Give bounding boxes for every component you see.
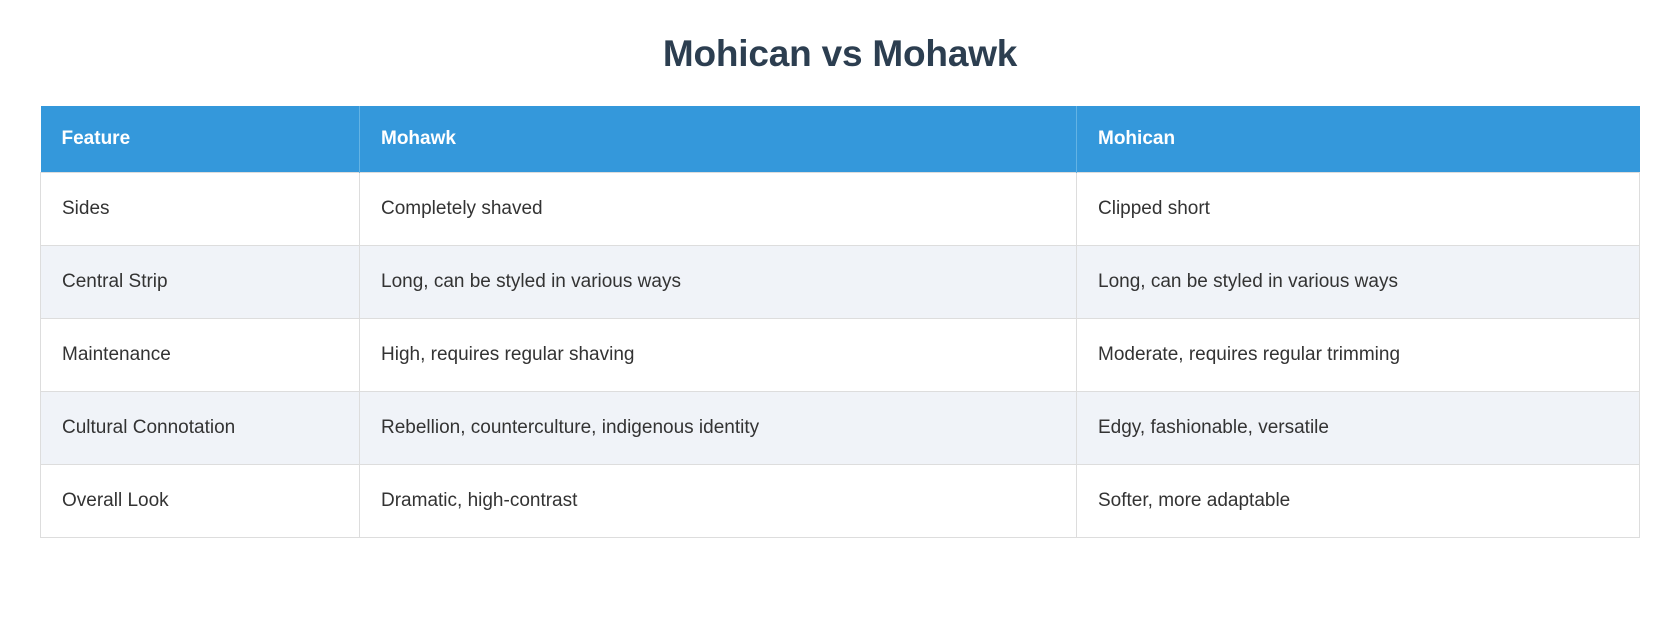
- table-row: Maintenance High, requires regular shavi…: [41, 318, 1640, 391]
- cell-mohican: Long, can be styled in various ways: [1077, 245, 1640, 318]
- table-row: Cultural Connotation Rebellion, counterc…: [41, 391, 1640, 464]
- cell-feature: Sides: [41, 172, 360, 245]
- page-title: Mohican vs Mohawk: [0, 0, 1680, 76]
- table-header-row: Feature Mohawk Mohican: [41, 106, 1640, 172]
- cell-mohawk: Dramatic, high-contrast: [360, 464, 1077, 537]
- column-header-mohawk: Mohawk: [360, 106, 1077, 172]
- table-body: Sides Completely shaved Clipped short Ce…: [41, 172, 1640, 537]
- cell-mohawk: Long, can be styled in various ways: [360, 245, 1077, 318]
- cell-mohawk: Rebellion, counterculture, indigenous id…: [360, 391, 1077, 464]
- cell-feature: Overall Look: [41, 464, 360, 537]
- cell-feature: Central Strip: [41, 245, 360, 318]
- cell-feature: Maintenance: [41, 318, 360, 391]
- comparison-page: Mohican vs Mohawk Feature Mohawk Mohican…: [0, 0, 1680, 626]
- cell-mohican: Clipped short: [1077, 172, 1640, 245]
- cell-mohican: Softer, more adaptable: [1077, 464, 1640, 537]
- cell-mohawk: Completely shaved: [360, 172, 1077, 245]
- cell-mohawk: High, requires regular shaving: [360, 318, 1077, 391]
- cell-mohican: Moderate, requires regular trimming: [1077, 318, 1640, 391]
- cell-mohican: Edgy, fashionable, versatile: [1077, 391, 1640, 464]
- cell-feature: Cultural Connotation: [41, 391, 360, 464]
- table-row: Sides Completely shaved Clipped short: [41, 172, 1640, 245]
- column-header-feature: Feature: [41, 106, 360, 172]
- comparison-table-container: Feature Mohawk Mohican Sides Completely …: [40, 106, 1639, 538]
- table-row: Central Strip Long, can be styled in var…: [41, 245, 1640, 318]
- table-row: Overall Look Dramatic, high-contrast Sof…: [41, 464, 1640, 537]
- table-header: Feature Mohawk Mohican: [41, 106, 1640, 172]
- column-header-mohican: Mohican: [1077, 106, 1640, 172]
- comparison-table: Feature Mohawk Mohican Sides Completely …: [40, 106, 1640, 538]
